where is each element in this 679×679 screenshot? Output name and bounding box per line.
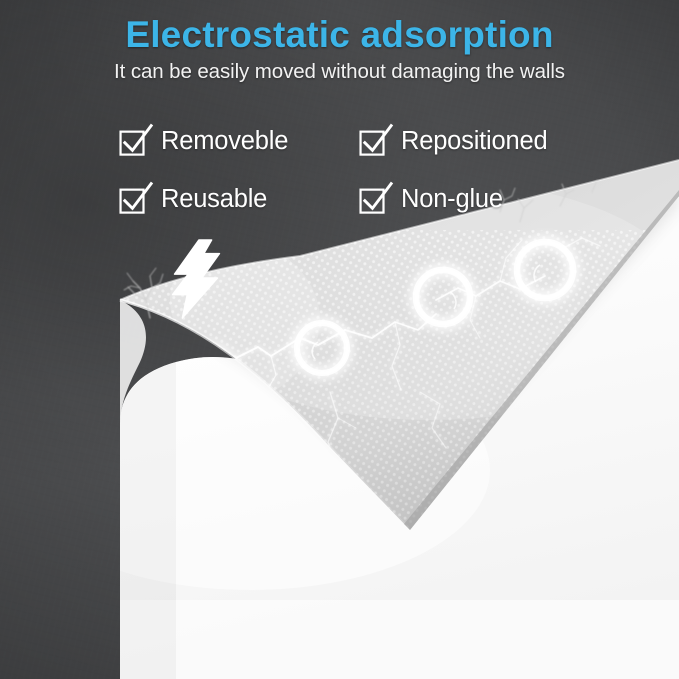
feature-label: Removeble — [161, 127, 288, 156]
checkbox-checked-icon — [118, 124, 152, 158]
checkbox-checked-icon — [358, 182, 392, 216]
feature-item-reusable: Reusable — [118, 182, 358, 216]
poster-canvas: Electrostatic adsorption It can be easil… — [0, 0, 679, 679]
checkbox-checked-icon — [118, 182, 152, 216]
page-title: Electrostatic adsorption — [0, 14, 679, 56]
peeling-vinyl-sheet-artwork — [0, 0, 679, 679]
checkbox-checked-icon — [358, 124, 392, 158]
feature-label: Reusable — [161, 185, 267, 214]
feature-item-non-glue: Non-glue — [358, 182, 598, 216]
feature-label: Non-glue — [401, 185, 503, 214]
feature-item-repositioned: Repositioned — [358, 124, 598, 158]
header: Electrostatic adsorption It can be easil… — [0, 14, 679, 85]
feature-list: Removeble Repositioned Reusable Non-glue — [118, 112, 588, 228]
feature-item-removeble: Removeble — [118, 124, 358, 158]
page-subtitle: It can be easily moved without damaging … — [0, 60, 679, 85]
feature-label: Repositioned — [401, 127, 547, 156]
